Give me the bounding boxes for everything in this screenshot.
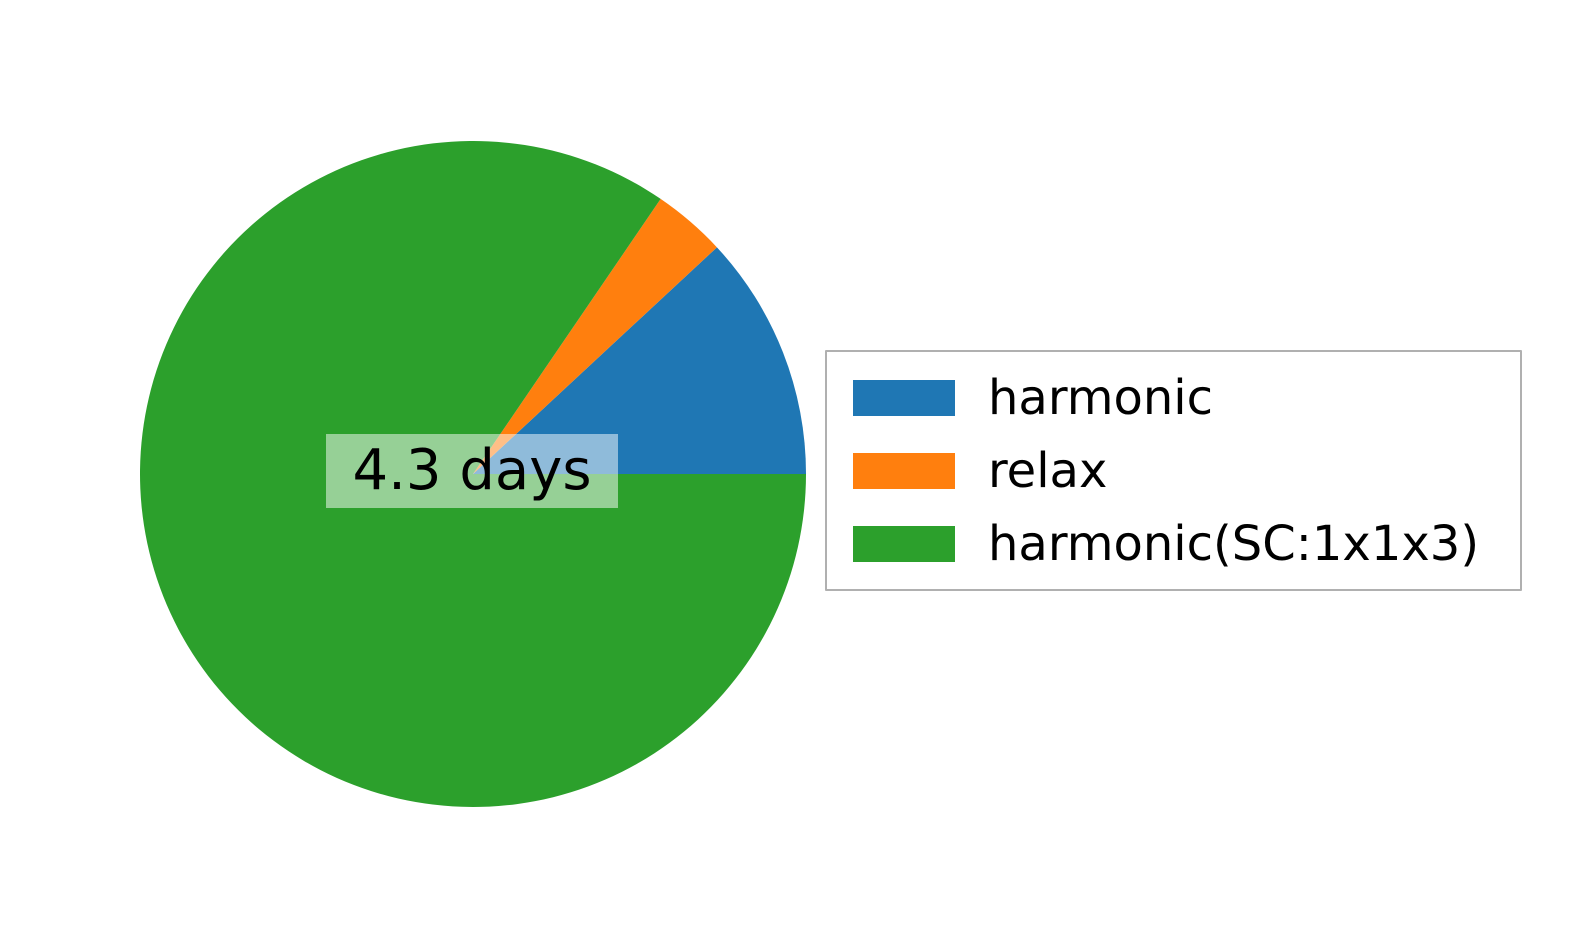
legend-entry-relax[interactable]: relax <box>853 447 1107 495</box>
legend-entry-harmonic[interactable]: harmonic <box>853 374 1213 422</box>
legend-swatch-harmonic-sc <box>853 526 955 562</box>
legend-label-harmonic: harmonic <box>988 374 1213 422</box>
pie-center-total-label: 4.3 days <box>326 434 618 508</box>
legend-entries: harmonic relax harmonic(SC:1x1x3) <box>827 352 1520 589</box>
legend-box: harmonic relax harmonic(SC:1x1x3) <box>825 350 1522 591</box>
legend-swatch-harmonic <box>853 380 955 416</box>
pie-center-total-text: 4.3 days <box>352 443 591 499</box>
legend-swatch-relax <box>853 453 955 489</box>
legend-entry-harmonic-sc[interactable]: harmonic(SC:1x1x3) <box>853 520 1479 568</box>
legend-label-harmonic-sc: harmonic(SC:1x1x3) <box>988 520 1479 568</box>
legend-label-relax: relax <box>988 447 1107 495</box>
pie-chart-figure: 4.3 days harmonic relax harmonic(SC:1x1x… <box>0 0 1585 951</box>
